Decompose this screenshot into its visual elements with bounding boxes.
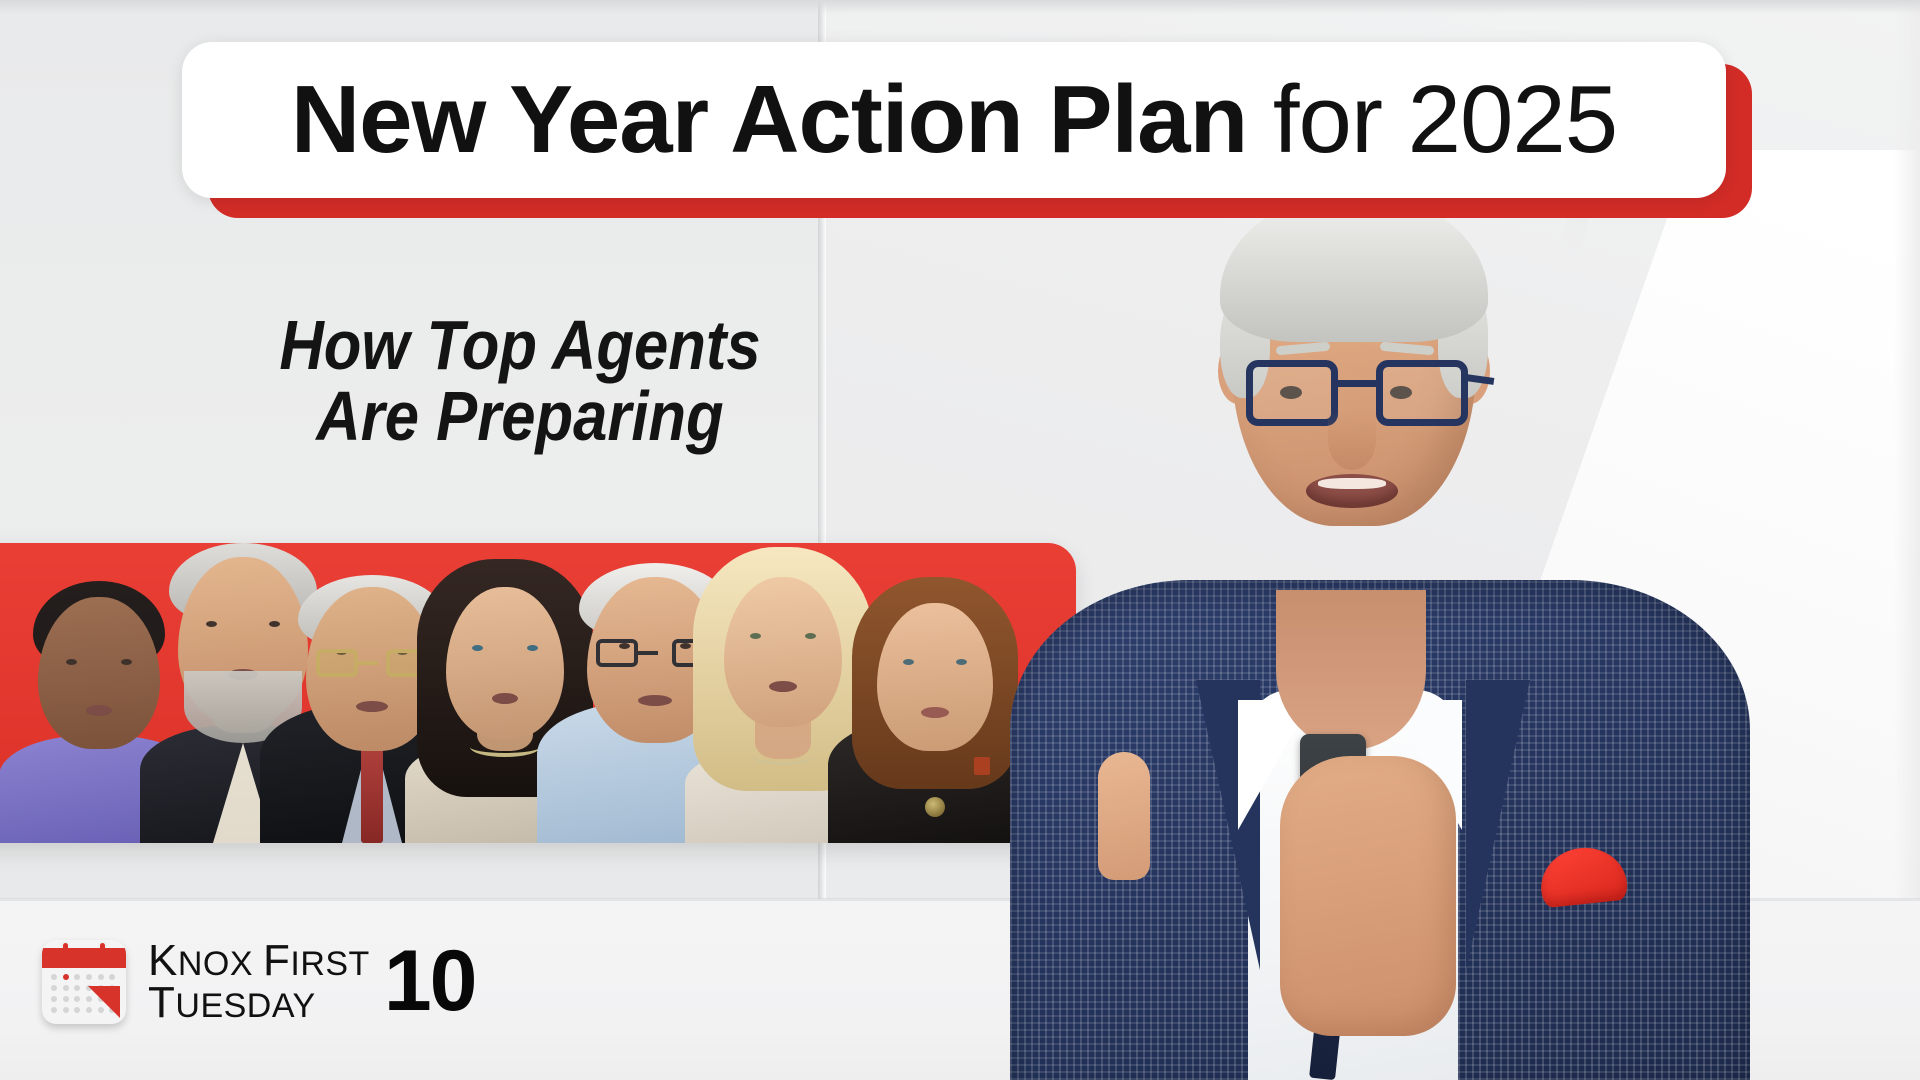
speaker-index-finger	[1098, 752, 1150, 880]
page-title-bold: New Year Action Plan	[291, 66, 1247, 173]
logo-text-lines: KNOX FIRST TUESDAY	[148, 941, 370, 1024]
episode-number: 10	[384, 943, 476, 1020]
title-card-group: New Year Action Plan for 2025	[182, 42, 1752, 218]
panelist-pendant	[925, 797, 945, 817]
logo-l1-rest: NOX	[178, 945, 263, 983]
subtitle: How Top Agents Are Preparing	[194, 310, 845, 453]
subtitle-line-1: How Top Agents	[194, 310, 845, 381]
panelist-necklace	[751, 746, 815, 765]
speaker-lapel-right	[1466, 680, 1530, 970]
panelist-tie	[361, 739, 383, 843]
speaker-hand	[1280, 756, 1456, 1036]
title-card: New Year Action Plan for 2025	[182, 42, 1726, 198]
panelist-face	[877, 603, 993, 751]
logo-wordmark: KNOX FIRST TUESDAY 10	[148, 941, 476, 1024]
speaker-mouth	[1306, 474, 1398, 508]
main-speaker: logi	[980, 168, 1780, 1080]
subtitle-line-2: Are Preparing	[194, 381, 845, 452]
logo-l2-lead: T	[148, 978, 175, 1027]
slide-canvas: logi New Year Action Plan for 2025 How T…	[0, 0, 1920, 1080]
show-logo-lockup: KNOX FIRST TUESDAY 10	[42, 940, 476, 1024]
logo-line-2: TUESDAY	[148, 983, 370, 1023]
calendar-fold-corner	[88, 986, 120, 1018]
panelist-necklace	[470, 737, 540, 757]
logo-l2-rest: UESDAY	[175, 987, 315, 1025]
speaker-neck	[1276, 590, 1426, 750]
speaker-nose	[1328, 410, 1376, 470]
page-title-light: for 2025	[1247, 66, 1617, 173]
calendar-icon	[42, 940, 126, 1024]
panelist-strip	[0, 543, 1076, 843]
calendar-header-bar	[42, 948, 126, 968]
logo-l1-rest2: IRST	[290, 945, 369, 983]
page-title: New Year Action Plan for 2025	[257, 72, 1651, 168]
background-top-shade	[0, 0, 1920, 14]
logo-l1-lead2: F	[263, 936, 290, 985]
logo-line-1: KNOX FIRST	[148, 941, 370, 981]
